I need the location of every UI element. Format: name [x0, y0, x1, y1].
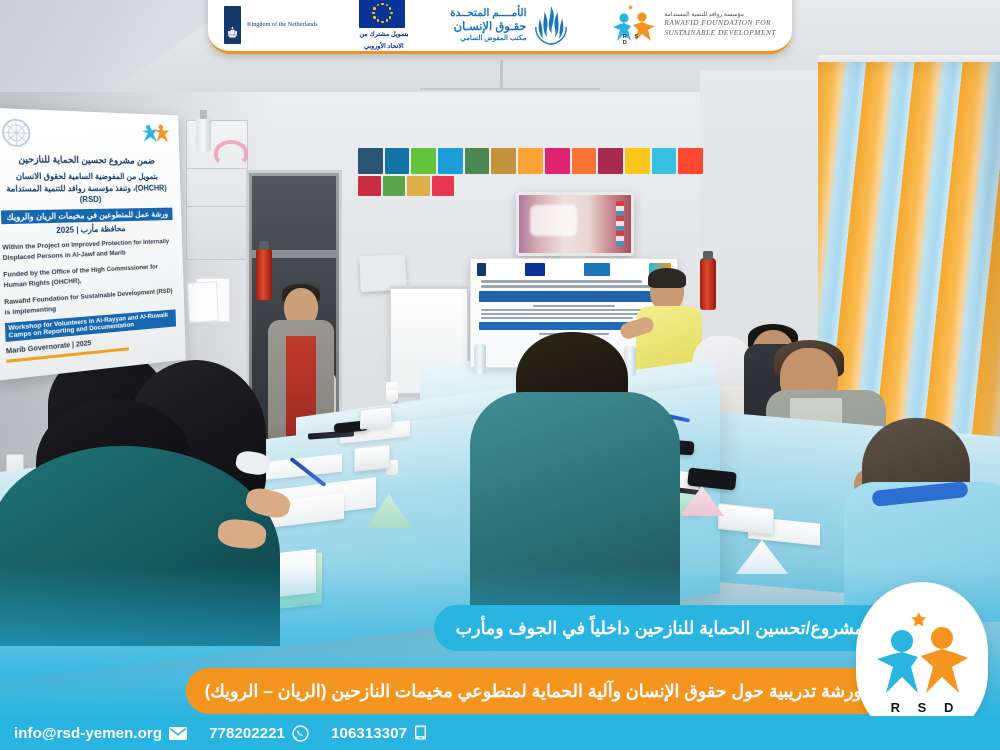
wall-banner: ضمن مشروع تحسين الحماية للنازحين بتمويل … — [0, 108, 186, 381]
rsd-figures-icon: R S D — [611, 5, 657, 45]
wall-banner-en-2: Funded by the Office of the High Commiss… — [3, 262, 175, 292]
wall-banner-highlight: ورشة عمل للمتطوعين في مخيمات الريان والر… — [1, 207, 173, 224]
wall-banner-en-1: Within the Project on Improved Protectio… — [2, 237, 174, 264]
sdg-goal-tile — [491, 148, 516, 174]
banner-text-line — [481, 285, 662, 288]
rsd-badge-figures-icon — [874, 609, 970, 697]
banner-text-line — [481, 317, 633, 319]
paper-cup — [386, 390, 398, 402]
ohchr-flame-emblem-icon — [532, 4, 570, 46]
sdg-goal-tile — [358, 148, 383, 174]
logo-rawafid-foundation: R S D مؤسسة روافد للتنمية المستدامة RAWA… — [611, 5, 776, 45]
wall-banner-logos — [0, 117, 170, 152]
eu-star-icon — [373, 16, 376, 19]
logo-european-union: بتمويل مشترك من الاتحاد الأوروبي — [359, 0, 408, 52]
eu-star-icon — [373, 7, 376, 10]
netherlands-crest-icon — [227, 25, 238, 39]
event-title-bar: ورشة تدريبية حول حقوق الإنسان وآلية الحم… — [186, 668, 888, 714]
contact-phone[interactable]: 106313307 — [331, 725, 427, 742]
eu-star-icon — [377, 4, 380, 7]
fire-extinguisher — [700, 258, 716, 310]
eu-chip-icon — [525, 263, 545, 276]
sdg-goal-tile — [678, 148, 703, 174]
water-bottle — [474, 344, 486, 374]
eu-star-icon — [377, 19, 380, 22]
sdg-goal-tile — [411, 148, 436, 174]
sdg-goal-tile — [432, 176, 455, 196]
eu-star-icon — [381, 3, 384, 6]
cabinet-line — [186, 168, 248, 169]
tissue-box — [354, 444, 390, 472]
mobile-icon — [414, 725, 427, 741]
sdg-goal-tile — [465, 148, 490, 174]
rsd-letters: R S D — [623, 34, 646, 46]
contact-whatsapp[interactable]: 778202221 — [209, 725, 309, 742]
banner-logo-row — [471, 259, 677, 278]
contact-email[interactable]: info@rsd-yemen.org — [14, 725, 187, 742]
ohchr-text: الأمــــم المتحــدة حقـوق الإنسـان مكتب … — [450, 7, 526, 42]
event-title-text: ورشة تدريبية حول حقوق الإنسان وآلية الحم… — [205, 681, 862, 702]
whatsapp-icon — [292, 725, 309, 742]
logo-kingdom-of-the-netherlands: Kingdom of the Netherlands — [224, 6, 318, 44]
logo-ohchr: الأمــــم المتحــدة حقـوق الإنسـان مكتب … — [450, 4, 569, 46]
sdg-goal-tile — [518, 148, 543, 174]
sdg-goal-tile — [438, 148, 463, 174]
contact-phone-text: 106313307 — [331, 725, 407, 742]
eu-star-icon — [389, 7, 392, 10]
wall-banner-title: ضمن مشروع تحسين الحماية للنازحين — [0, 152, 171, 167]
un-emblem-icon — [0, 117, 35, 149]
wall-banner-funding: بتمويل من المفوضية السامية لحقوق الانسان… — [0, 170, 172, 207]
sdg-goal-tile — [358, 176, 381, 196]
tv-screen — [519, 195, 631, 253]
poster-frame: ضمن مشروع تحسين الحماية للنازحين بتمويل … — [0, 0, 1000, 750]
rawafid-en-line2: SUSTAINABLE DEVELOPMENT — [664, 28, 776, 38]
eu-star-icon — [381, 21, 384, 24]
wall-tv — [516, 192, 634, 256]
contact-bar: info@rsd-yemen.org 778202221 106313307 — [0, 716, 1000, 750]
rawafid-arabic: مؤسسة روافد للتنمية المستدامة — [664, 11, 776, 18]
cabinet-line — [186, 206, 248, 207]
sdg-goal-tile — [598, 148, 623, 174]
wall-paper — [187, 281, 219, 323]
envelope-icon — [169, 727, 187, 740]
banner-text-line — [481, 309, 658, 311]
netherlands-label: Kingdom of the Netherlands — [247, 21, 318, 28]
ohchr-line1: الأمــــم المتحــدة — [450, 7, 526, 19]
sdg-goal-tile — [407, 176, 430, 196]
banner-text-line — [481, 280, 642, 283]
eu-caption-line1: بتمويل مشترك من — [359, 31, 408, 40]
ohchr-line3: مكتب المفوض السامي — [450, 34, 526, 42]
project-title-text: مشروع/تحسين الحماية للنازحين داخلياً في … — [456, 618, 864, 639]
rsd-logo-icon — [139, 122, 170, 144]
nl-chip-icon — [477, 263, 486, 276]
eu-star-icon — [372, 12, 375, 15]
sdg-goal-tile — [625, 148, 650, 174]
ohchr-line2: حقـوق الإنسـان — [450, 19, 526, 33]
rsd-badge-letters: R S D — [884, 700, 961, 715]
wall-banner-gov: محافظة مأرب | 2025 — [2, 223, 173, 237]
sdg-goal-tile — [652, 148, 677, 174]
sanitizer-bottle — [196, 118, 211, 152]
ohchr-chip-icon — [584, 263, 610, 276]
contact-whatsapp-text: 778202221 — [209, 725, 285, 742]
fire-extinguisher — [256, 248, 272, 300]
eu-flag-icon — [359, 0, 405, 28]
tissue-box — [360, 406, 392, 429]
eu-caption-line2: الاتحاد الأوروبي — [359, 43, 408, 52]
banner-text-line — [533, 305, 615, 307]
eu-star-icon — [390, 12, 393, 15]
contact-email-text: info@rsd-yemen.org — [14, 725, 162, 742]
rawafid-en-line1: RAWAFID FOUNDATION FOR — [664, 18, 776, 28]
sdg-goal-tile — [383, 176, 406, 196]
presenter-hair — [648, 268, 686, 288]
project-title-bar: مشروع/تحسين الحماية للنازحين داخلياً في … — [434, 605, 888, 651]
banner-blue-bar — [479, 291, 669, 302]
banner-text-line — [481, 313, 646, 315]
eu-star-icon — [386, 4, 389, 7]
sdg-goal-tile — [385, 148, 410, 174]
sponsor-logo-header: Kingdom of the Netherlands بتمويل مشترك … — [208, 0, 792, 54]
ceiling-rod — [500, 60, 503, 90]
eu-star-icon — [386, 19, 389, 22]
pink-handle — [214, 140, 248, 166]
eu-star-icon — [389, 16, 392, 19]
rawafid-text: مؤسسة روافد للتنمية المستدامة RAWAFID FO… — [664, 11, 776, 37]
netherlands-flag-icon — [224, 6, 241, 44]
sdg-goal-tile — [545, 148, 570, 174]
sdg-poster-row-2 — [358, 176, 454, 200]
eu-stars-icon — [371, 2, 393, 24]
ceiling-rod — [420, 88, 600, 90]
sdg-goal-tile — [572, 148, 597, 174]
